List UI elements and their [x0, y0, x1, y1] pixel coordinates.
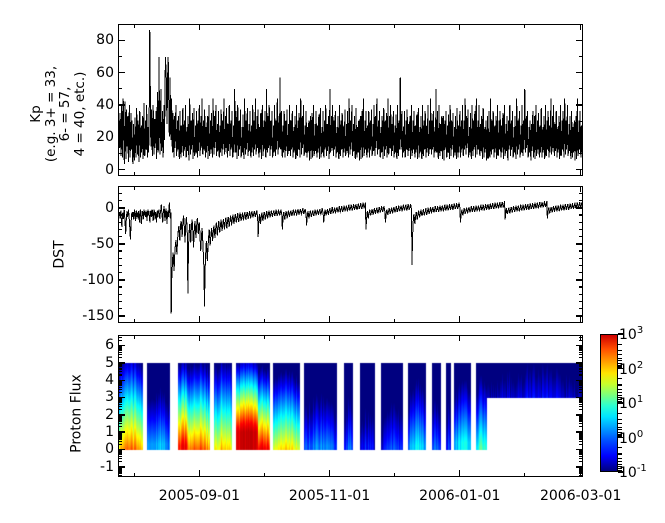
ytick-minor-mark [118, 200, 122, 201]
ytick-minor-mark [579, 389, 583, 390]
ytick-minor-mark [579, 434, 583, 435]
ytick-mark [576, 207, 583, 208]
ytick-minor-mark [579, 382, 583, 383]
ytick-label: 0 [60, 200, 114, 216]
ytick-minor-mark [118, 401, 122, 402]
ytick-label: 40 [60, 97, 114, 113]
ytick-minor-mark [579, 346, 583, 347]
ytick-minor-mark [118, 88, 122, 89]
ytick-minor-mark [579, 250, 583, 251]
colorbar-tick-minor-mark [618, 447, 622, 448]
ytick-minor-mark [118, 438, 122, 439]
ytick-minor-mark [118, 308, 122, 309]
colorbar-tick-minor-mark [618, 413, 622, 414]
ytick-minor-mark [118, 454, 122, 455]
ytick-minor-mark [579, 214, 583, 215]
ytick-minor-mark [579, 435, 583, 436]
ytick-mark [118, 40, 125, 41]
ytick-minor-mark [579, 461, 583, 462]
ytick-minor-mark [118, 368, 122, 369]
ytick-minor-mark [579, 349, 583, 350]
ytick-mark [118, 315, 125, 316]
ytick-mark [118, 279, 125, 280]
ytick-minor-mark [579, 450, 583, 451]
ytick-minor-mark [579, 229, 583, 230]
ytick-minor-mark [118, 406, 122, 407]
xtick-label: 2005-09-01 [159, 488, 240, 504]
ytick-minor-mark [118, 461, 122, 462]
xtick-mark [580, 316, 581, 323]
ytick-minor-mark [118, 383, 122, 384]
colorbar-tick-minor-mark [618, 389, 622, 390]
ytick-minor-mark [118, 404, 122, 405]
colorbar-tick-minor-mark [618, 432, 622, 433]
colorbar-tick-minor-mark [618, 423, 622, 424]
ytick-mark [118, 207, 125, 208]
ytick-label: 4 [60, 372, 114, 388]
ytick-minor-mark [118, 421, 122, 422]
ytick-mark [576, 137, 583, 138]
ytick-minor-mark [579, 417, 583, 418]
ytick-mark [576, 104, 583, 105]
ytick-minor-mark [118, 357, 122, 358]
colorbar-tick-mark [618, 437, 624, 438]
xtick-minor-mark [394, 186, 395, 190]
ytick-minor-mark [118, 475, 122, 476]
xtick-minor-mark [134, 172, 135, 176]
ytick-minor-mark [579, 369, 583, 370]
ytick-mark [118, 137, 125, 138]
panel-proton-flux [118, 335, 583, 477]
ytick-minor-mark [118, 409, 122, 410]
colorbar-tick-minor-mark [618, 358, 622, 359]
colorbar-tick-minor-mark [618, 360, 622, 361]
ytick-mark [118, 104, 125, 105]
colorbar-tick-minor-mark [618, 363, 622, 364]
colorbar-tick-minor-mark [618, 397, 622, 398]
xtick-minor-mark [264, 335, 265, 339]
xtick-mark [580, 470, 581, 477]
xtick-mark [329, 169, 330, 176]
colorbar-tick-minor-mark [618, 384, 622, 385]
ytick-minor-mark [118, 340, 122, 341]
ytick-minor-mark [118, 56, 122, 57]
ytick-minor-mark [579, 402, 583, 403]
colorbar-tick-minor-mark [618, 350, 622, 351]
colorbar-tick-minor-mark [618, 461, 622, 462]
ytick-minor-mark [579, 441, 583, 442]
xtick-minor-mark [264, 319, 265, 323]
ytick-minor-mark [579, 236, 583, 237]
colorbar-tick-minor-mark [618, 453, 622, 454]
colorbar-tick-minor-mark [618, 395, 622, 396]
ytick-minor-mark [118, 452, 122, 453]
xtick-minor-mark [394, 172, 395, 176]
xtick-label: 2005-11-01 [289, 488, 370, 504]
ytick-label: 20 [60, 129, 114, 145]
ytick-minor-mark [118, 392, 122, 393]
ytick-minor-mark [579, 415, 583, 416]
panel-dst [118, 186, 583, 323]
xtick-mark [329, 335, 330, 341]
ytick-minor-mark [118, 432, 122, 433]
ytick-mark [118, 169, 125, 170]
ytick-minor-mark [118, 153, 122, 154]
xtick-mark [199, 186, 200, 192]
xtick-minor-mark [264, 24, 265, 28]
ytick-minor-mark [579, 454, 583, 455]
xtick-mark [580, 24, 581, 30]
ytick-minor-mark [118, 365, 122, 366]
ytick-minor-mark [118, 258, 122, 259]
ytick-minor-mark [579, 265, 583, 266]
ytick-minor-mark [579, 426, 583, 427]
ytick-minor-mark [579, 348, 583, 349]
ytick-minor-mark [579, 121, 583, 122]
xtick-minor-mark [134, 186, 135, 190]
xtick-minor-mark [264, 186, 265, 190]
ytick-minor-mark [579, 366, 583, 367]
ytick-minor-mark [118, 294, 122, 295]
xtick-mark [199, 470, 200, 477]
xtick-mark [199, 316, 200, 323]
xtick-minor-mark [394, 473, 395, 477]
ytick-mark [576, 243, 583, 244]
xtick-mark [199, 335, 200, 341]
xtick-mark [580, 186, 581, 192]
colorbar-tick-minor-mark [618, 458, 622, 459]
colorbar-tick-minor-mark [618, 366, 622, 367]
ytick-minor-mark [579, 56, 583, 57]
ytick-minor-mark [118, 415, 122, 416]
ytick-minor-mark [118, 352, 122, 353]
ytick-minor-mark [118, 214, 122, 215]
ytick-minor-mark [579, 294, 583, 295]
ytick-minor-mark [579, 467, 583, 468]
xtick-mark [459, 169, 460, 176]
ytick-minor-mark [579, 272, 583, 273]
ytick-minor-mark [118, 473, 122, 474]
ytick-minor-mark [579, 453, 583, 454]
ytick-minor-mark [118, 382, 122, 383]
ytick-minor-mark [579, 392, 583, 393]
xtick-mark [459, 186, 460, 192]
ytick-mark [118, 72, 125, 73]
dst-line-plot [119, 187, 582, 322]
ytick-minor-mark [579, 401, 583, 402]
ytick-minor-mark [118, 354, 122, 355]
ytick-minor-mark [118, 467, 122, 468]
ytick-minor-mark [579, 371, 583, 372]
xtick-minor-mark [134, 24, 135, 28]
ytick-minor-mark [118, 456, 122, 457]
ytick-minor-mark [118, 458, 122, 459]
data-line [119, 30, 582, 164]
ytick-minor-mark [118, 371, 122, 372]
figure-root: Kp (e.g. 3+ = 33, 6- = 57, 4 = 40, etc.)… [0, 0, 665, 523]
xtick-minor-mark [394, 24, 395, 28]
ytick-label: 80 [60, 32, 114, 48]
ytick-minor-mark [579, 400, 583, 401]
ytick-minor-mark [118, 444, 122, 445]
ytick-label: 0 [60, 441, 114, 457]
colorbar-tick-minor-mark [618, 344, 622, 345]
ytick-minor-mark [579, 438, 583, 439]
ytick-minor-mark [579, 418, 583, 419]
ytick-minor-mark [118, 437, 122, 438]
ytick-minor-mark [579, 444, 583, 445]
xtick-mark [459, 335, 460, 341]
ytick-label: -150 [60, 308, 114, 324]
ytick-minor-mark [118, 402, 122, 403]
ytick-minor-mark [118, 222, 122, 223]
xtick-minor-mark [134, 319, 135, 323]
colorbar-tick-mark [618, 368, 624, 369]
ytick-minor-mark [579, 387, 583, 388]
ytick-minor-mark [118, 348, 122, 349]
xtick-minor-mark [134, 335, 135, 339]
ytick-minor-mark [118, 418, 122, 419]
xtick-mark [580, 169, 581, 176]
xtick-mark [329, 24, 330, 30]
ytick-minor-mark [579, 368, 583, 369]
ytick-mark [576, 40, 583, 41]
ytick-minor-mark [579, 153, 583, 154]
ytick-minor-mark [579, 365, 583, 366]
ytick-minor-mark [579, 352, 583, 353]
ytick-label: 3 [60, 389, 114, 405]
ytick-minor-mark [579, 409, 583, 410]
ytick-minor-mark [579, 308, 583, 309]
ytick-minor-mark [579, 88, 583, 89]
xtick-mark [199, 24, 200, 30]
xtick-mark [199, 169, 200, 176]
ytick-label: 2 [60, 407, 114, 423]
ytick-label: 5 [60, 355, 114, 371]
ytick-label: 0 [60, 162, 114, 178]
ytick-minor-mark [118, 400, 122, 401]
ytick-minor-mark [118, 419, 122, 420]
ytick-minor-mark [118, 471, 122, 472]
ytick-minor-mark [118, 434, 122, 435]
ytick-minor-mark [579, 398, 583, 399]
ytick-minor-mark [118, 417, 122, 418]
ytick-minor-mark [118, 450, 122, 451]
ytick-minor-mark [118, 374, 122, 375]
xtick-minor-mark [524, 473, 525, 477]
xtick-minor-mark [264, 172, 265, 176]
ytick-minor-mark [118, 236, 122, 237]
panel-kp [118, 24, 583, 176]
xtick-minor-mark [264, 473, 265, 477]
xtick-minor-mark [524, 24, 525, 28]
xtick-minor-mark [524, 319, 525, 323]
ytick-minor-mark [579, 258, 583, 259]
ytick-minor-mark [579, 421, 583, 422]
xtick-minor-mark [394, 335, 395, 339]
ytick-minor-mark [579, 437, 583, 438]
ytick-minor-mark [118, 366, 122, 367]
proton-flux-spectrogram [119, 336, 582, 476]
ytick-minor-mark [118, 398, 122, 399]
xtick-mark [329, 470, 330, 477]
xtick-minor-mark [524, 186, 525, 190]
ytick-label: -100 [60, 272, 114, 288]
ytick-minor-mark [579, 354, 583, 355]
ytick-label: 60 [60, 65, 114, 81]
xtick-label: 2006-03-01 [540, 488, 621, 504]
ytick-minor-mark [118, 349, 122, 350]
colorbar-tick-minor-mark [618, 427, 622, 428]
colorbar-tick-minor-mark [618, 401, 622, 402]
ytick-minor-mark [579, 385, 583, 386]
ytick-minor-mark [118, 385, 122, 386]
ytick-minor-mark [579, 456, 583, 457]
ytick-minor-mark [579, 383, 583, 384]
xtick-mark [459, 470, 460, 477]
ytick-mark [576, 72, 583, 73]
ytick-minor-mark [118, 346, 122, 347]
ytick-minor-mark [118, 469, 122, 470]
data-line [119, 201, 582, 313]
colorbar-tick-mark [618, 471, 624, 472]
colorbar-tick-minor-mark [618, 464, 622, 465]
ytick-minor-mark [579, 363, 583, 364]
ytick-minor-mark [579, 374, 583, 375]
ytick-minor-mark [579, 350, 583, 351]
xtick-minor-mark [134, 473, 135, 477]
ytick-minor-mark [579, 200, 583, 201]
colorbar-tick-minor-mark [618, 354, 622, 355]
ytick-minor-mark [118, 441, 122, 442]
xtick-mark [329, 186, 330, 192]
ytick-label: 1 [60, 424, 114, 440]
colorbar-tick-mark [618, 333, 624, 334]
xtick-mark [459, 24, 460, 30]
ytick-minor-mark [579, 222, 583, 223]
ytick-minor-mark [118, 337, 122, 338]
ytick-minor-mark [579, 419, 583, 420]
colorbar-gradient [600, 334, 618, 472]
ytick-minor-mark [118, 265, 122, 266]
ytick-minor-mark [579, 404, 583, 405]
ytick-minor-mark [118, 380, 122, 381]
ytick-minor-mark [579, 286, 583, 287]
colorbar-tick-minor-mark [618, 466, 622, 467]
xtick-minor-mark [524, 172, 525, 176]
xtick-mark [580, 335, 581, 341]
ytick-minor-mark [118, 453, 122, 454]
colorbar-tick-minor-mark [618, 419, 622, 420]
ytick-minor-mark [579, 357, 583, 358]
colorbar-tick-minor-mark [618, 378, 622, 379]
ytick-minor-mark [118, 363, 122, 364]
ytick-label: -50 [60, 236, 114, 252]
xtick-mark [329, 316, 330, 323]
ytick-mark [576, 279, 583, 280]
ytick-minor-mark [118, 350, 122, 351]
ytick-minor-mark [118, 229, 122, 230]
ytick-minor-mark [579, 193, 583, 194]
kp-line-plot [119, 25, 582, 175]
ytick-minor-mark [118, 272, 122, 273]
ytick-minor-mark [579, 406, 583, 407]
ytick-minor-mark [118, 121, 122, 122]
ytick-minor-mark [118, 286, 122, 287]
ytick-minor-mark [579, 380, 583, 381]
ytick-minor-mark [118, 426, 122, 427]
ytick-minor-mark [579, 452, 583, 453]
colorbar-tick-minor-mark [618, 429, 622, 430]
xtick-label: 2006-01-01 [419, 488, 500, 504]
ytick-minor-mark [579, 423, 583, 424]
xtick-mark [459, 316, 460, 323]
ytick-minor-mark [118, 470, 122, 471]
ytick-minor-mark [118, 435, 122, 436]
ytick-minor-mark [118, 250, 122, 251]
ytick-label: -1 [60, 459, 114, 475]
colorbar-tick-minor-mark [618, 392, 622, 393]
colorbar: 10310210110010-1 [600, 334, 660, 474]
ytick-minor-mark [118, 387, 122, 388]
ytick-minor-mark [118, 369, 122, 370]
ytick-minor-mark [118, 389, 122, 390]
colorbar-tick-minor-mark [618, 435, 622, 436]
ytick-label: 6 [60, 337, 114, 353]
ytick-minor-mark [579, 301, 583, 302]
colorbar-tick-minor-mark [618, 470, 622, 471]
xtick-minor-mark [524, 335, 525, 339]
ytick-minor-mark [118, 301, 122, 302]
ytick-minor-mark [118, 193, 122, 194]
ytick-minor-mark [579, 458, 583, 459]
xtick-minor-mark [394, 319, 395, 323]
colorbar-tick-mark [618, 402, 624, 403]
ytick-minor-mark [118, 423, 122, 424]
ytick-mark [118, 243, 125, 244]
ytick-minor-mark [579, 432, 583, 433]
